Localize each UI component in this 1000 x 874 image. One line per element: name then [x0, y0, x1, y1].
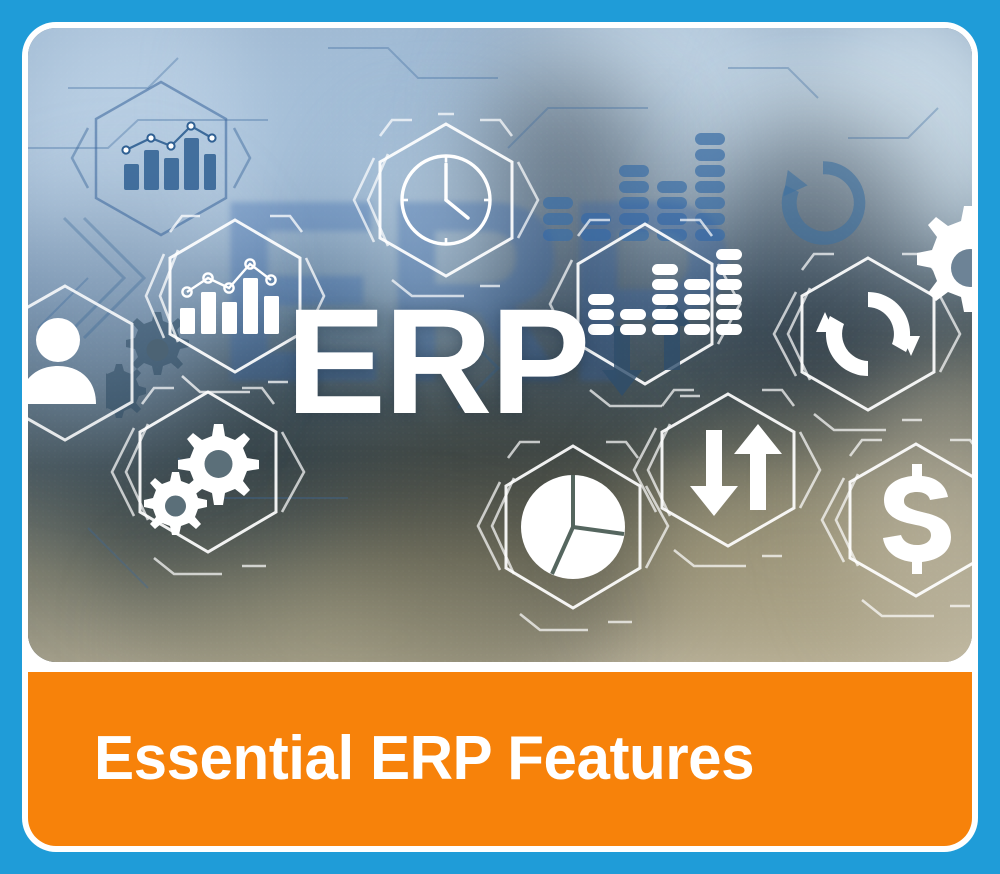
refresh-cycle-icon	[816, 292, 920, 376]
outer-blue-frame: ERP	[0, 0, 1000, 874]
user-icon	[28, 318, 96, 404]
hero-image: ERP	[28, 28, 972, 662]
hex-tile-dollar	[816, 426, 972, 641]
hex-tile-gears	[106, 376, 311, 596]
hex-tile-gear-right	[908, 198, 972, 338]
gears-icon	[144, 424, 259, 535]
clock-icon	[402, 156, 490, 244]
gear-right-icon	[917, 206, 972, 312]
dollar-icon	[883, 464, 951, 574]
caption-title: Essential ERP Features	[94, 728, 754, 790]
feature-card: ERP	[22, 22, 978, 852]
transfer-arrows-icon	[690, 424, 782, 516]
page-title: ERP	[286, 286, 588, 436]
pie-chart-icon	[521, 475, 625, 579]
caption-bar: Essential ERP Features	[28, 672, 972, 846]
hex-tile-pie-chart	[466, 426, 681, 656]
